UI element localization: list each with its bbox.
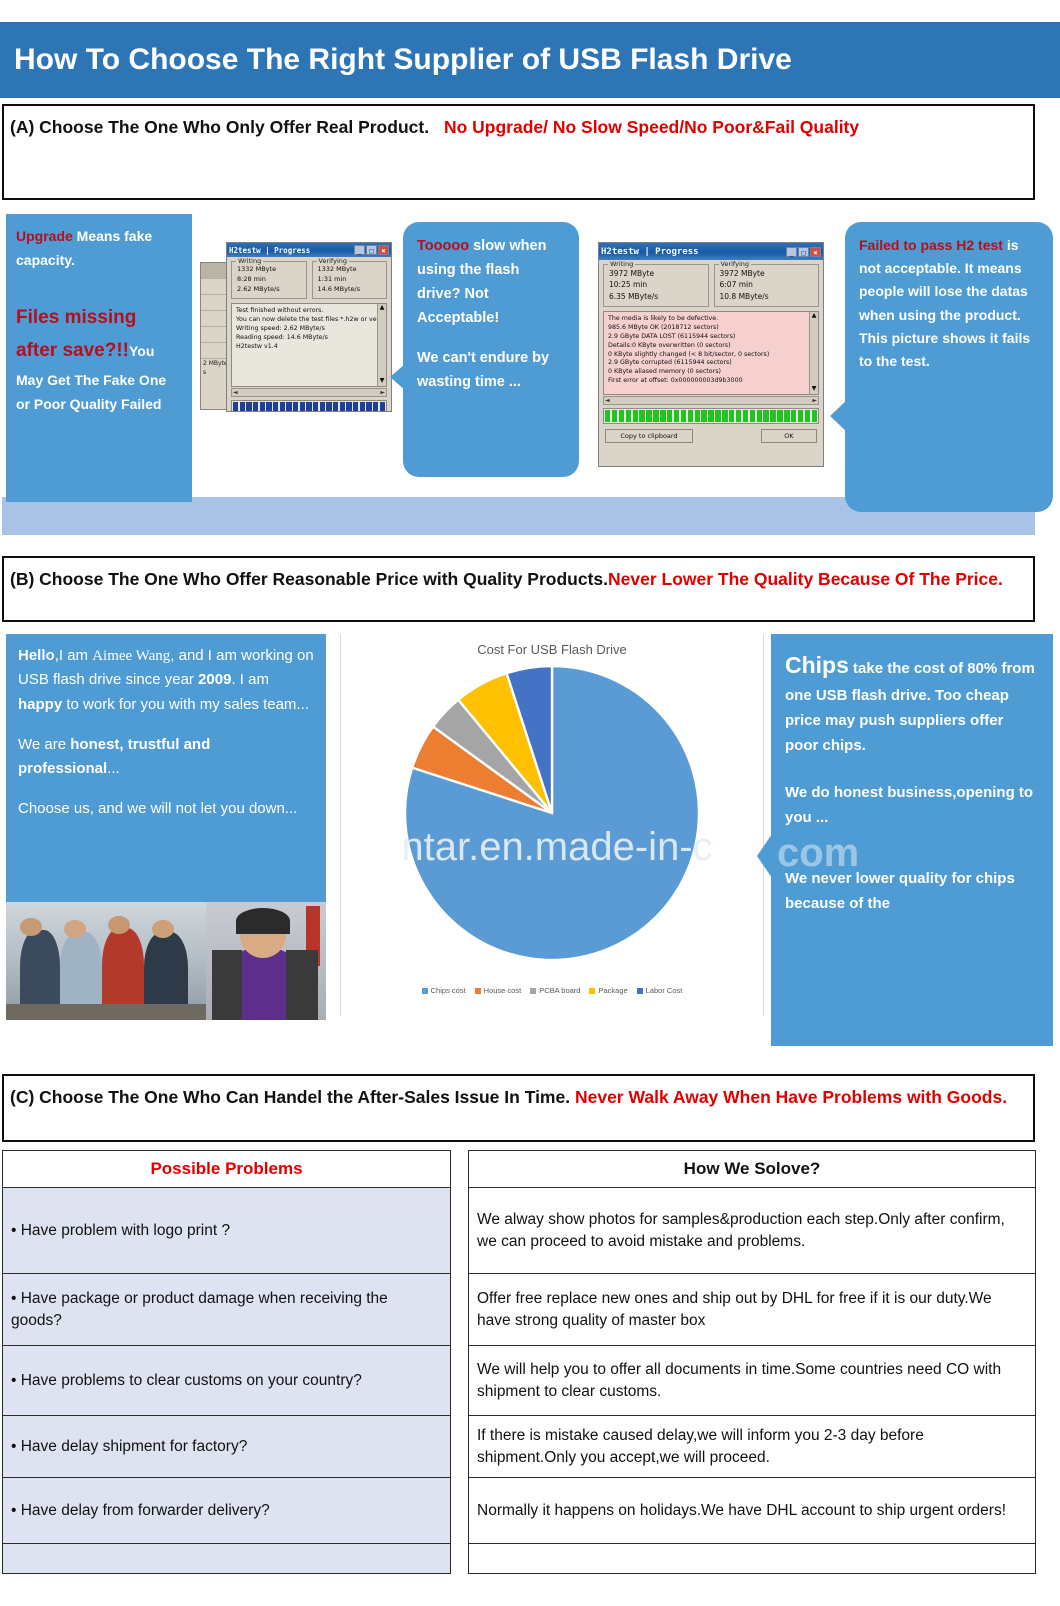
team-photos — [6, 902, 326, 1020]
legend-swatch-icon — [422, 988, 428, 994]
log-line: 985.6 MByte OK (2018712 sectors) — [608, 324, 814, 333]
section-b-heading-red: Never Lower The Quality Because Of The P… — [608, 569, 1003, 589]
closing-line: Choose us, and we will not let you down.… — [18, 797, 314, 821]
sales-rep-name: Aimee Wang — [92, 648, 170, 664]
h2testw-fail-writing-group: Writing 3972 MByte 10:25 min 6.35 MByte/… — [603, 264, 709, 307]
solution-cell: We alway show photos for samples&product… — [469, 1188, 1036, 1274]
h2testw-pass-log: Test finished without errors. You can no… — [231, 303, 387, 387]
table-row — [3, 1544, 1036, 1574]
table-row: • Have problems to clear customs on your… — [3, 1346, 1036, 1416]
legend-label: House cost — [484, 986, 522, 995]
upgrade-keyword: Upgrade — [16, 228, 73, 244]
problem-cell: • Have problems to clear customs on your… — [3, 1346, 451, 1416]
h2testw-fail-progressbar — [603, 408, 819, 424]
scroll-up-icon[interactable]: ▲ — [380, 304, 385, 313]
pie-svg — [402, 663, 702, 963]
legend-swatch-icon — [637, 988, 643, 994]
close-icon[interactable]: × — [378, 245, 389, 255]
log-line: 0 KByte slightly changed (< 8 bit/sector… — [608, 351, 814, 360]
never-lower-quality-text: We never lower quality for chips because… — [785, 867, 1039, 917]
scroll-up-icon[interactable]: ▲ — [812, 312, 817, 321]
verifying-size: 3972 MByte — [720, 268, 815, 279]
writing-time: 8:28 min — [237, 275, 302, 285]
legend-label: Chips cost — [431, 986, 466, 995]
legend-swatch-icon — [589, 988, 595, 994]
intro-a: ,I am — [55, 647, 93, 664]
scroll-left-icon[interactable]: ◄ — [605, 397, 610, 404]
scroll-down-icon[interactable]: ▼ — [812, 385, 817, 394]
legend-item: Chips cost — [422, 986, 466, 995]
h2testw-fail-verifying-group: Verifying 3972 MByte 6:07 min 10.8 MByte… — [714, 264, 820, 307]
legend-item: Labor Cost — [637, 986, 683, 995]
close-icon[interactable]: × — [810, 247, 821, 257]
callout-h2-failed: Failed to pass H2 test is not acceptable… — [845, 222, 1053, 512]
writing-label: Writing — [608, 260, 635, 268]
verifying-label: Verifying — [719, 260, 752, 268]
log-line: 2.9 GByte corrupted (6115944 sectors) — [608, 359, 814, 368]
column-gap — [451, 1151, 469, 1188]
writing-speed: 2.62 MByte/s — [237, 285, 302, 295]
solution-cell: If there is mistake caused delay,we will… — [469, 1416, 1036, 1478]
h2testw-pass-writing-group: Writing 1332 MByte 8:28 min 2.62 MByte/s — [231, 261, 307, 299]
h2testw-fail-log: The media is likely to be defective. 985… — [603, 311, 819, 395]
window-controls[interactable]: _ □ × — [786, 247, 821, 257]
problem-cell: • Have problem with logo print ? — [3, 1188, 451, 1274]
h2testw-pass-progressbar — [231, 400, 387, 412]
legend-item: Package — [589, 986, 627, 995]
writing-speed: 6.35 MByte/s — [609, 291, 704, 302]
section-c-heading-red: Never Walk Away When Have Problems with … — [575, 1087, 1007, 1107]
intro-d: to work for you with my sales team... — [62, 696, 309, 713]
h2testw-fail-titlebar[interactable]: H2testw | Progress _ □ × — [599, 243, 823, 260]
section-b-left-panel: Hello,I am Aimee Wang, and I am working … — [6, 634, 326, 904]
section-b-heading: (B) Choose The One Who Offer Reasonable … — [2, 556, 1035, 622]
scroll-left-icon[interactable]: ◄ — [233, 389, 238, 396]
values-a: We are — [18, 736, 70, 753]
maximize-icon[interactable]: □ — [366, 245, 377, 255]
chips-percent: 80% — [967, 660, 997, 677]
table-row: • Have delay shipment for factory? If th… — [3, 1416, 1036, 1478]
log-line: 0 KByte aliased memory (0 sectors) — [608, 368, 814, 377]
slow-keyword: Tooooo — [417, 238, 469, 254]
happy-keyword: happy — [18, 696, 62, 713]
ok-button[interactable]: OK — [761, 429, 817, 443]
h2testw-fail-buttons[interactable]: Copy to clipboard OK — [599, 427, 823, 447]
maximize-icon[interactable]: □ — [798, 247, 809, 257]
log-horizontal-scrollbar[interactable]: ◄► — [603, 396, 819, 405]
table-header-problems: Possible Problems — [3, 1151, 451, 1188]
legend-item: House cost — [475, 986, 522, 995]
hello-keyword: Hello — [18, 647, 55, 664]
problem-cell: • Have delay shipment for factory? — [3, 1416, 451, 1478]
log-line: Details:0 KByte overwritten (0 sectors) — [608, 342, 814, 351]
h2-failed-keyword: Failed to pass H2 test — [859, 237, 1003, 253]
scroll-right-icon[interactable]: ► — [812, 397, 817, 404]
h2testw-fail-dialog[interactable]: H2testw | Progress _ □ × Writing 3972 MB… — [598, 242, 824, 467]
writing-time: 10:25 min — [609, 279, 704, 290]
table-header-row: Possible Problems How We Solove? — [3, 1151, 1036, 1188]
log-horizontal-scrollbar[interactable]: ◄► — [231, 388, 387, 397]
log-line: Test finished without errors. — [236, 307, 382, 316]
solution-cell: We will help you to offer all documents … — [469, 1346, 1036, 1416]
h2testw-pass-title: H2testw | Progress — [229, 246, 310, 255]
start-year: 2009 — [198, 671, 231, 688]
h2-failed-text-2: This picture shows it fails to the test. — [859, 327, 1039, 373]
values-b: ... — [107, 760, 120, 777]
table-row: • Have delay from forwarder delivery? No… — [3, 1478, 1036, 1544]
h2testw-fail-title: H2testw | Progress — [601, 247, 699, 257]
problem-cell — [3, 1544, 451, 1574]
legend-swatch-icon — [530, 988, 536, 994]
sales-rep-photo — [206, 902, 326, 1020]
problem-cell: • Have delay from forwarder delivery? — [3, 1478, 451, 1544]
verifying-time: 6:07 min — [720, 279, 815, 290]
slow-text-2: We can't endure by wasting time ... — [417, 346, 565, 394]
log-vertical-scrollbar[interactable]: ▲▼ — [377, 304, 386, 386]
section-a-heading: (A) Choose The One Who Only Offer Real P… — [2, 104, 1035, 200]
log-line: 2.9 GByte DATA LOST (6115944 sectors) — [608, 333, 814, 342]
legend-label: PCBA board — [539, 986, 580, 995]
log-line: You can now delete the test files *.h2w … — [236, 316, 382, 325]
files-missing-keyword: Files missing after save?!! — [16, 307, 136, 361]
section-c-heading: (C) Choose The One Who Can Handel the Af… — [2, 1074, 1035, 1142]
log-line: Writing speed: 2.62 MByte/s — [236, 325, 382, 334]
log-line: First error at offset: 0x000000003d9b300… — [608, 377, 814, 386]
section-b-right-panel: Chips take the cost of 80% from one USB … — [771, 634, 1053, 1046]
h2testw-pass-dialog[interactable]: H2testw | Progress _ □ × Writing 1332 MB… — [226, 242, 392, 412]
legend-swatch-icon — [475, 988, 481, 994]
legend-label: Package — [598, 986, 627, 995]
table-header-solutions: How We Solove? — [469, 1151, 1036, 1188]
scroll-down-icon[interactable]: ▼ — [380, 377, 385, 386]
solution-cell: Normally it happens on holidays.We have … — [469, 1478, 1036, 1544]
section-c-heading-black: (C) Choose The One Who Can Handel the Af… — [10, 1087, 570, 1107]
verifying-time: 1:31 min — [318, 275, 383, 285]
window-controls[interactable]: _ □ × — [354, 245, 389, 255]
h2testw-pass-titlebar[interactable]: H2testw | Progress _ □ × — [227, 243, 391, 257]
chips-keyword: Chips — [785, 652, 849, 678]
verifying-speed: 14.6 MByte/s — [318, 285, 383, 295]
section-a-left-panel: Upgrade Means fake capacity. Files missi… — [6, 214, 192, 502]
team-photo-group — [6, 902, 206, 1020]
minimize-icon[interactable]: _ — [354, 245, 365, 255]
verifying-size: 1332 MByte — [318, 265, 383, 275]
intro-c: . I am — [231, 671, 269, 688]
scroll-right-icon[interactable]: ► — [380, 389, 385, 396]
pie-plot-area: ntar.en.made-in-c — [341, 657, 763, 957]
chips-a: take the cost of — [849, 660, 967, 677]
after-sales-table: Possible Problems How We Solove? • Have … — [2, 1150, 1036, 1574]
writing-size: 1332 MByte — [237, 265, 302, 275]
log-line: The media is likely to be defective. — [608, 315, 814, 324]
section-b-heading-black: (B) Choose The One Who Offer Reasonable … — [10, 569, 608, 589]
writing-size: 3972 MByte — [609, 268, 704, 279]
cost-pie-chart: Cost For USB Flash Drive ntar.en.made-in… — [340, 634, 764, 1016]
h2testw-pass-verifying-group: Verifying 1332 MByte 1:31 min 14.6 MByte… — [312, 261, 388, 299]
log-vertical-scrollbar[interactable]: ▲▼ — [809, 312, 818, 394]
log-line: H2testw v1.4 — [236, 343, 382, 352]
minimize-icon[interactable]: _ — [786, 247, 797, 257]
writing-label: Writing — [236, 257, 263, 265]
section-a-heading-red: No Upgrade/ No Slow Speed/No Poor&Fail Q… — [444, 117, 859, 137]
section-a-heading-black: (A) Choose The One Who Only Offer Real P… — [10, 117, 429, 137]
honest-business-text: We do honest business,opening to you ... — [785, 781, 1039, 831]
legend-label: Labor Cost — [646, 986, 683, 995]
table-row: • Have package or product damage when re… — [3, 1274, 1036, 1346]
page-title: How To Choose The Right Supplier of USB … — [0, 43, 792, 77]
solution-cell: Offer free replace new ones and ship out… — [469, 1274, 1036, 1346]
chart-title: Cost For USB Flash Drive — [341, 634, 763, 657]
table-row: • Have problem with logo print ? We alwa… — [3, 1188, 1036, 1274]
callout-slow-speed: Tooooo slow when using the flash drive? … — [403, 222, 579, 477]
legend-item: PCBA board — [530, 986, 580, 995]
verifying-speed: 10.8 MByte/s — [720, 291, 815, 302]
copy-to-clipboard-button[interactable]: Copy to clipboard — [605, 429, 693, 443]
problem-cell: • Have package or product damage when re… — [3, 1274, 451, 1346]
log-line: Reading speed: 14.6 MByte/s — [236, 334, 382, 343]
solution-cell — [469, 1544, 1036, 1574]
page-banner: How To Choose The Right Supplier of USB … — [0, 22, 1060, 98]
verifying-label: Verifying — [317, 257, 350, 265]
chart-legend: Chips costHouse costPCBA boardPackageLab… — [341, 986, 763, 995]
